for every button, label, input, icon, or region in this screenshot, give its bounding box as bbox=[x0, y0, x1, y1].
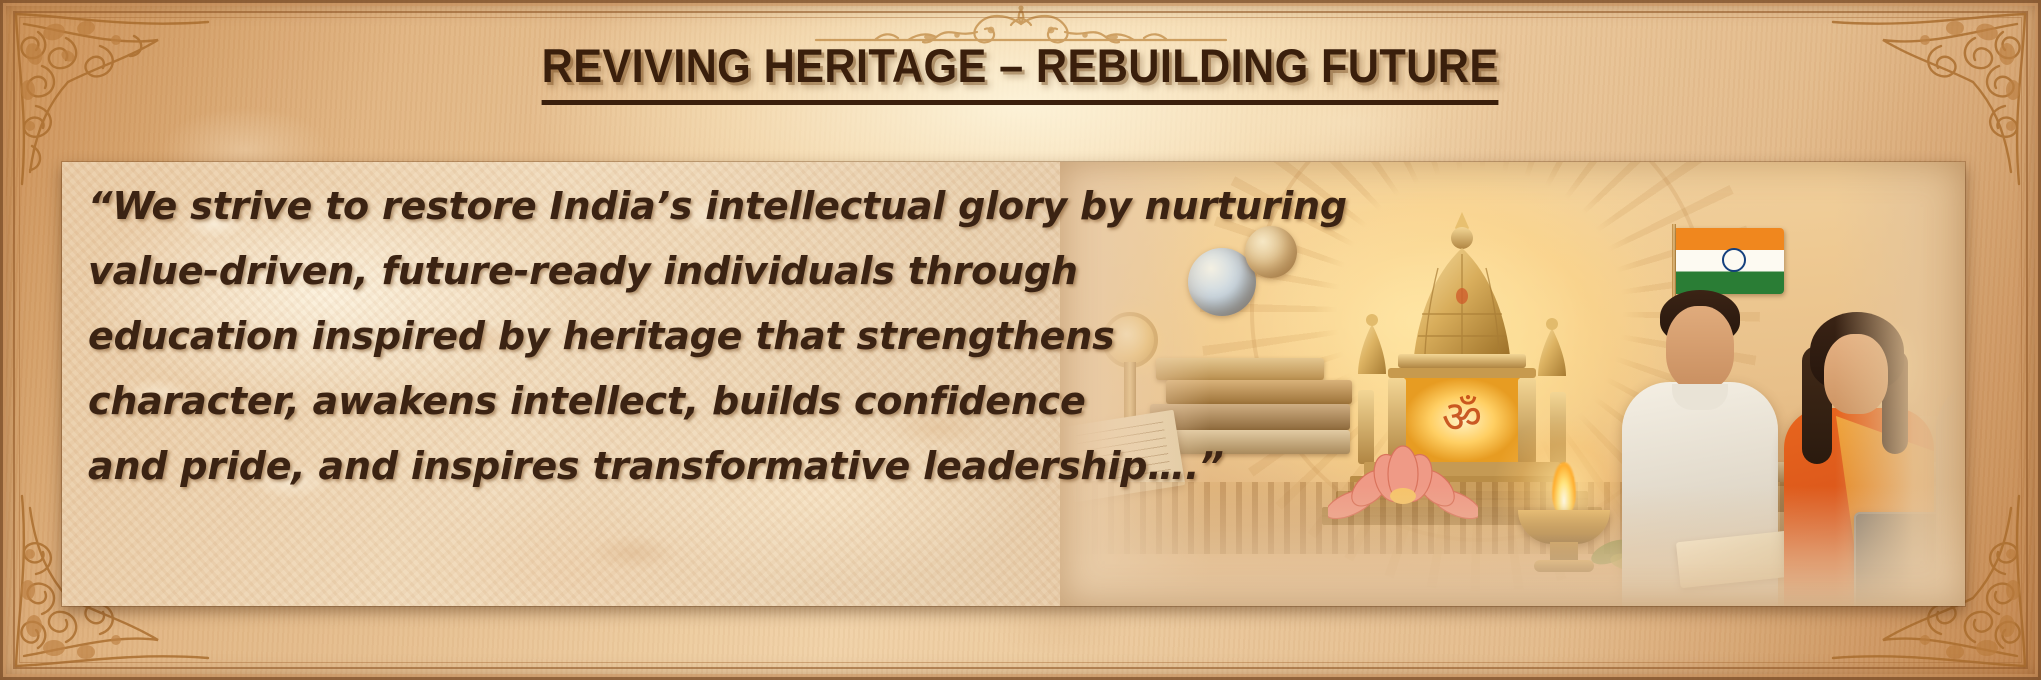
quote-panel: ॐ bbox=[62, 162, 1965, 606]
mission-quote: “We strive to restore India’s intellectu… bbox=[88, 174, 1378, 499]
quote-line: value-driven, future-ready individuals t… bbox=[88, 239, 1378, 304]
quote-line: “We strive to restore India’s intellectu… bbox=[88, 174, 1378, 239]
quote-line: character, awakens intellect, builds con… bbox=[88, 369, 1378, 434]
page-title-text: REVIVING HERITAGE – REBUILDING FUTURE bbox=[542, 38, 1499, 105]
quote-line: and pride, and inspires transformative l… bbox=[88, 434, 1378, 499]
ashoka-chakra-flag-icon bbox=[1722, 248, 1746, 272]
page-title: REVIVING HERITAGE – REBUILDING FUTURE bbox=[0, 38, 2041, 105]
artwork-bottom-fade bbox=[1060, 486, 1965, 606]
face bbox=[1666, 306, 1734, 390]
heritage-banner: REVIVING HERITAGE – REBUILDING FUTURE bbox=[0, 0, 2041, 680]
quote-line: education inspired by heritage that stre… bbox=[88, 304, 1378, 369]
collar bbox=[1672, 384, 1728, 410]
svg-text:ॐ: ॐ bbox=[1442, 392, 1482, 443]
